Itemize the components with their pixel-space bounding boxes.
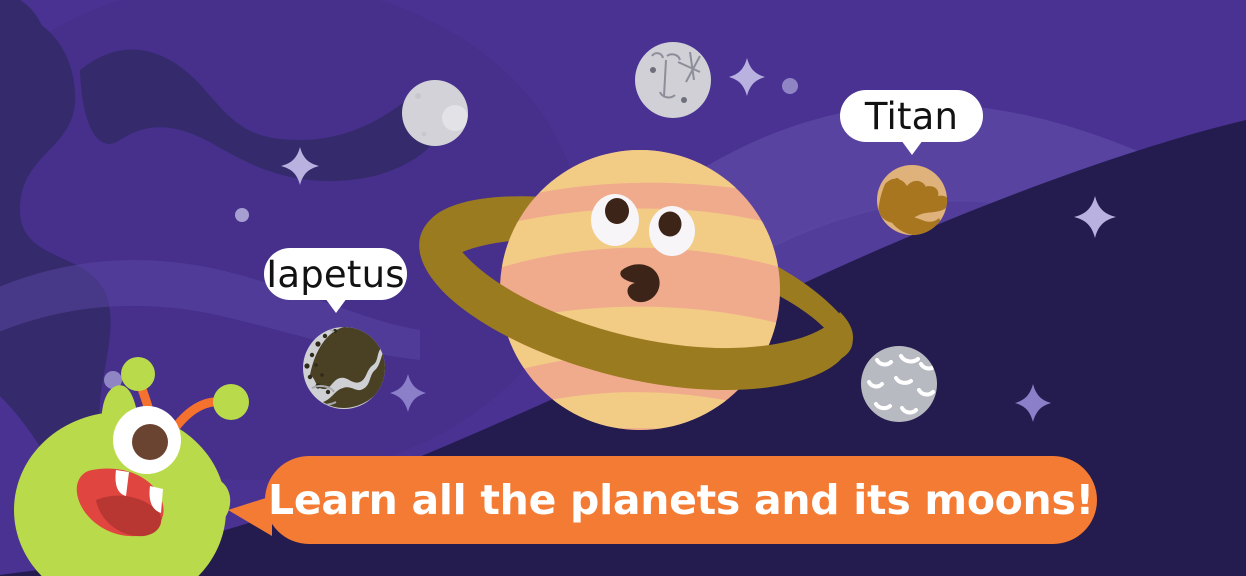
illustration-canvas: Learn all the planets and its moons! Iap…: [0, 0, 1246, 576]
label-bubble-iapetus[interactable]: Iapetus: [264, 248, 407, 300]
alien-eye-iris: [132, 424, 168, 460]
bubble-tail-icon: [901, 140, 923, 155]
saturn-right-pupil: [659, 212, 682, 237]
star-dot: [782, 78, 798, 94]
alien-antenna-bulb-right: [213, 384, 249, 420]
label-text-iapetus: Iapetus: [266, 256, 404, 293]
label-text-titan: Titan: [865, 98, 958, 135]
tethys-moon: [635, 42, 711, 118]
bubble-tail-icon: [325, 298, 347, 313]
banner-text: Learn all the planets and its moons!: [268, 476, 1094, 524]
dione-moon: [861, 346, 937, 422]
rhea-moon: [402, 80, 468, 146]
star-dot: [235, 208, 249, 222]
saturn-left-pupil: [605, 198, 629, 224]
label-bubble-titan[interactable]: Titan: [840, 90, 983, 142]
banner-callout[interactable]: Learn all the planets and its moons!: [265, 456, 1097, 544]
alien-antenna-bulb-left: [121, 357, 155, 391]
